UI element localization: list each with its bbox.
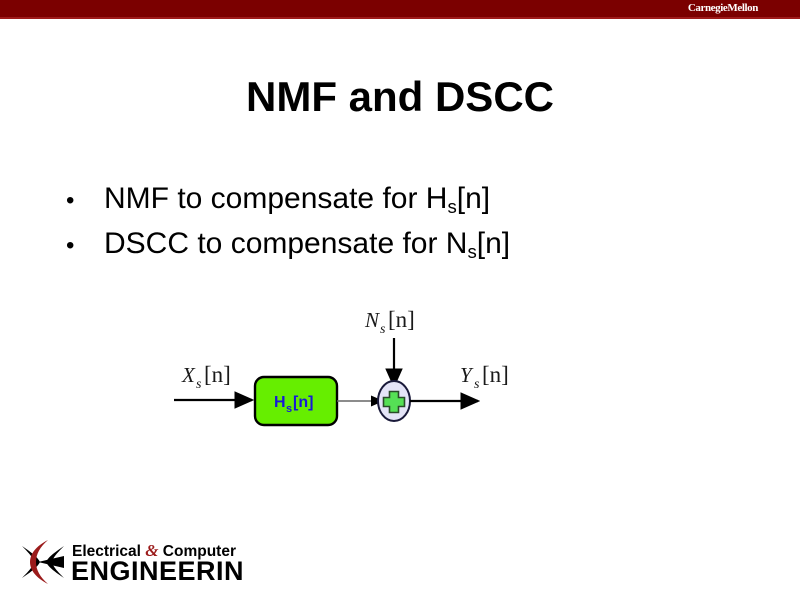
input-label-subscript: s (196, 377, 202, 392)
block-diagram: X s [n] H s [n] N s [n] (160, 300, 560, 445)
noise-label-brackets: [n] (388, 307, 415, 332)
slide-canvas: CarnegieMellon NMF and DSCC • NMF to com… (0, 0, 800, 599)
bullet-text-main: DSCC to compensate for N (104, 227, 467, 260)
diagram-noise-label: N s [n] (364, 307, 415, 337)
ece-logo: Electrical & Computer ENGINEERING (14, 534, 244, 590)
header-bar (0, 0, 800, 17)
output-label-main: Y (460, 363, 474, 387)
list-item: • DSCC to compensate for Ns[n] (66, 221, 766, 266)
diagram-input-label: X s [n] (181, 362, 231, 392)
block-label-subscript: s (286, 403, 292, 415)
bullet-text: DSCC to compensate for Ns[n] (104, 221, 510, 274)
ece-logo-mark-icon (22, 540, 64, 584)
block-label-main: H (274, 394, 286, 411)
noise-label-main: N (364, 308, 380, 332)
bullet-marker-icon: • (66, 178, 104, 223)
input-label-main: X (181, 363, 196, 387)
input-label-brackets: [n] (204, 362, 231, 387)
bullet-marker-icon: • (66, 223, 104, 268)
page-title: NMF and DSCC (0, 73, 800, 121)
bullet-text-tail: [n] (457, 182, 490, 215)
block-label-brackets: [n] (293, 394, 313, 411)
ece-logo-line2: ENGINEERING (71, 556, 244, 586)
carnegie-mellon-wordmark: CarnegieMellon (688, 1, 758, 15)
header-underline (0, 17, 800, 19)
bullet-text-tail: [n] (477, 227, 510, 260)
output-label-brackets: [n] (482, 362, 509, 387)
noise-label-subscript: s (380, 322, 386, 337)
adder-node (378, 381, 410, 421)
bullet-list: • NMF to compensate for Hs[n] • DSCC to … (66, 176, 766, 266)
bullet-subscript: s (467, 241, 476, 262)
diagram-output-label: Y s [n] (460, 362, 509, 392)
list-item: • NMF to compensate for Hs[n] (66, 176, 766, 221)
bullet-text-main: NMF to compensate for H (104, 182, 447, 215)
output-label-subscript: s (474, 377, 480, 392)
bullet-subscript: s (447, 196, 456, 217)
